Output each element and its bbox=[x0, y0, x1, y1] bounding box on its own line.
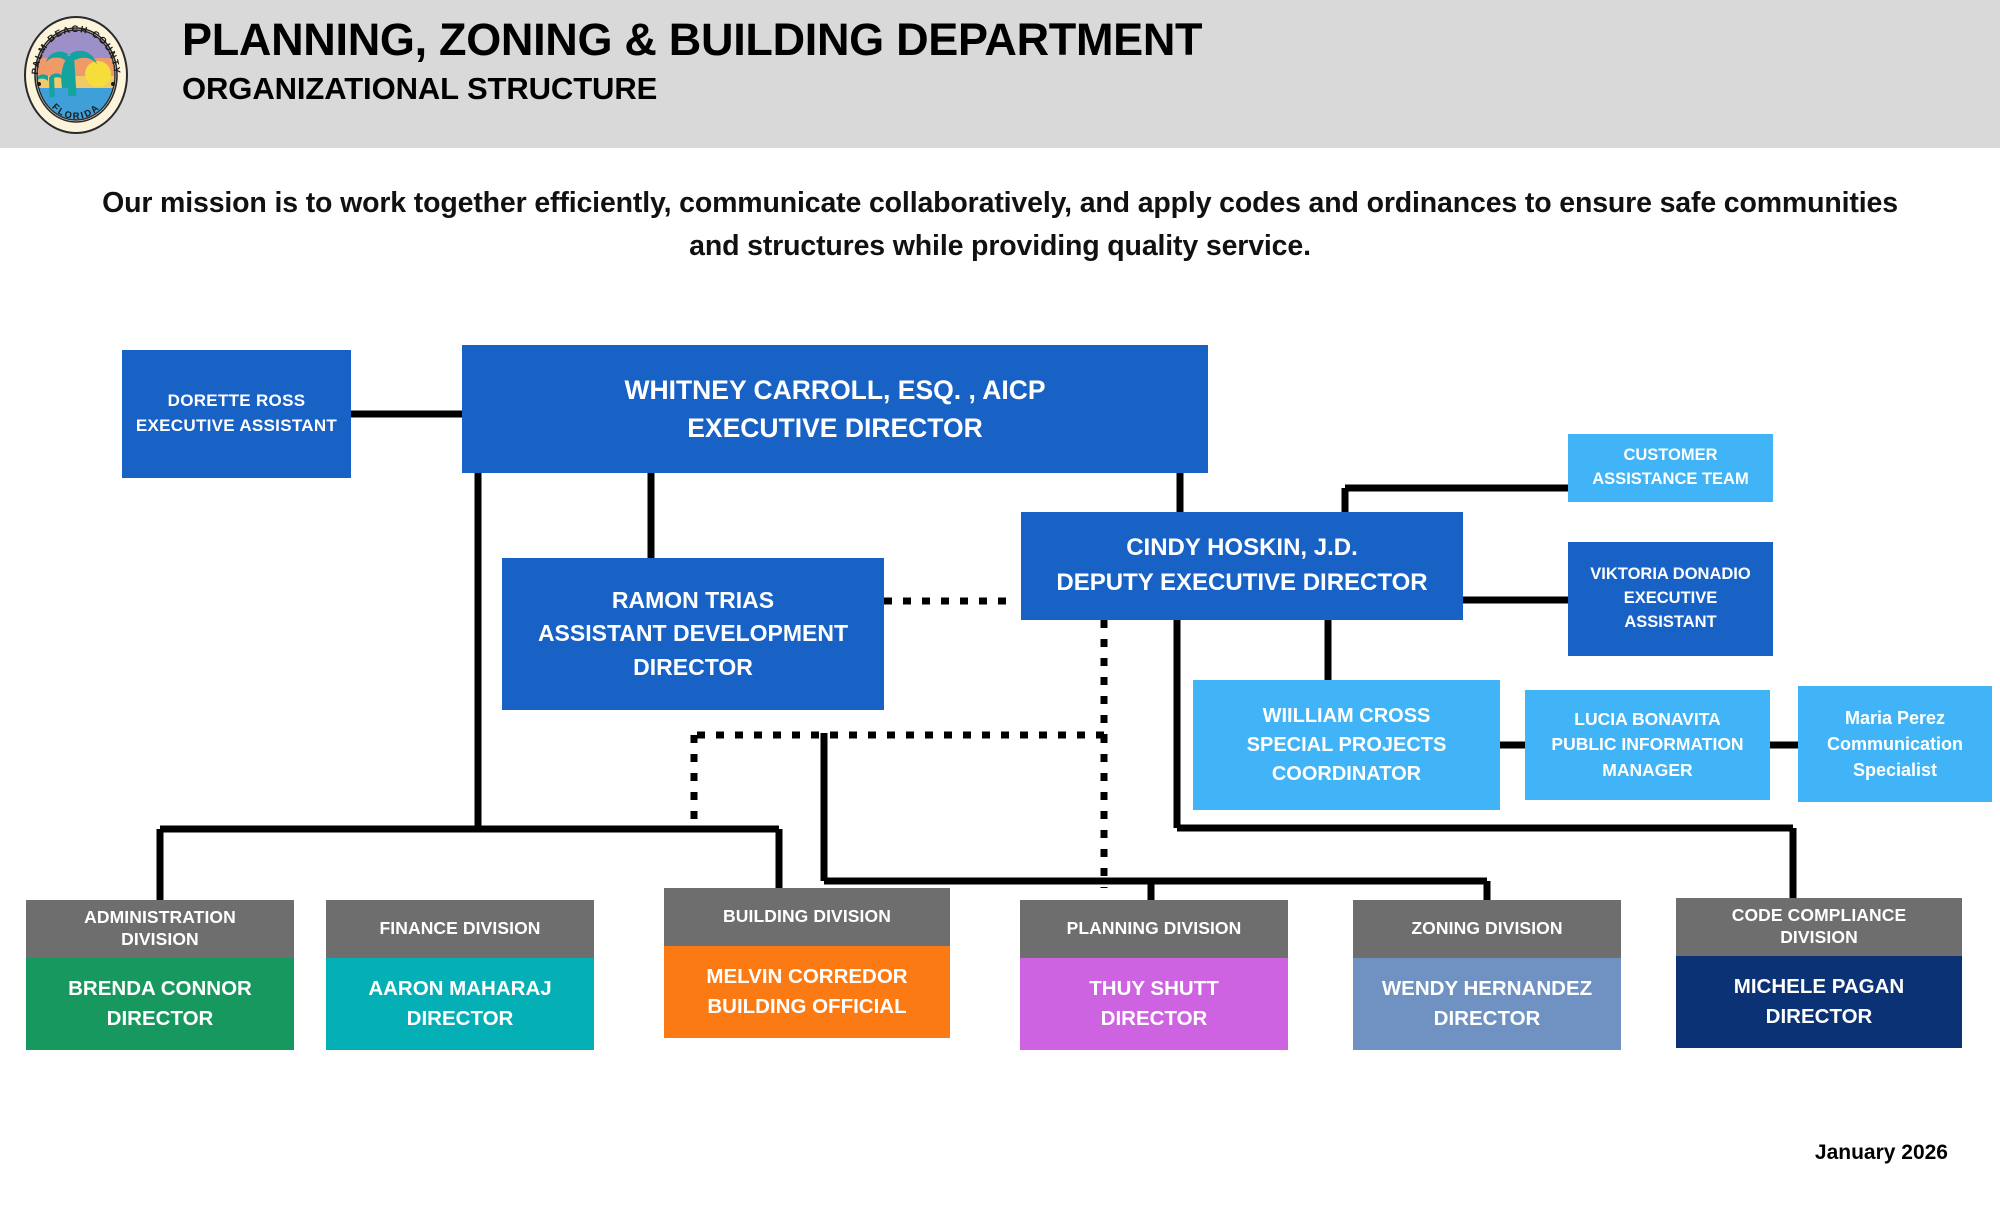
node-ramon-trias[interactable]: RAMON TRIAS ASSISTANT DEVELOPMENT DIRECT… bbox=[502, 558, 884, 710]
node-william-cross[interactable]: WIILLIAM CROSS SPECIAL PROJECTS COORDINA… bbox=[1193, 680, 1500, 810]
division-director-name: AARON MAHARAJ bbox=[368, 974, 551, 1004]
division-finance[interactable]: FINANCE DIVISION AARON MAHARAJ DIRECTOR bbox=[326, 900, 594, 1050]
division-director-role: DIRECTOR bbox=[407, 1004, 514, 1034]
node-name: CUSTOMER bbox=[1568, 444, 1773, 468]
division-director-role: DIRECTOR bbox=[107, 1004, 214, 1034]
division-director-role: BUILDING OFFICIAL bbox=[707, 992, 906, 1022]
node-name: RAMON TRIAS bbox=[502, 584, 884, 617]
division-director-role: DIRECTOR bbox=[1101, 1004, 1208, 1034]
node-role: EXECUTIVE ASSISTANT bbox=[122, 414, 351, 439]
division-administration[interactable]: ADMINISTRATION DIVISION BRENDA CONNOR DI… bbox=[26, 900, 294, 1050]
node-role-line-1: Communication bbox=[1798, 731, 1992, 757]
division-body: AARON MAHARAJ DIRECTOR bbox=[326, 958, 594, 1050]
division-building[interactable]: BUILDING DIVISION MELVIN CORREDOR BUILDI… bbox=[664, 888, 950, 1038]
division-header-line-2: DIVISION bbox=[1732, 927, 1907, 949]
node-name: Maria Perez bbox=[1798, 705, 1992, 731]
division-body: MICHELE PAGAN DIRECTOR bbox=[1676, 956, 1962, 1048]
node-role: ASSISTANCE TEAM bbox=[1568, 468, 1773, 492]
division-body: MELVIN CORREDOR BUILDING OFFICIAL bbox=[664, 946, 950, 1038]
division-header: ADMINISTRATION DIVISION bbox=[26, 900, 294, 958]
division-director-name: MELVIN CORREDOR bbox=[706, 962, 907, 992]
division-header: PLANNING DIVISION bbox=[1020, 900, 1288, 958]
division-header: CODE COMPLIANCE DIVISION bbox=[1676, 898, 1962, 956]
node-role-line-1: PUBLIC INFORMATION bbox=[1525, 732, 1770, 757]
division-director-name: MICHELE PAGAN bbox=[1734, 972, 1904, 1002]
node-role-line-2: ASSISTANT bbox=[1568, 611, 1773, 635]
node-name: LUCIA BONAVITA bbox=[1525, 707, 1770, 732]
division-header: BUILDING DIVISION bbox=[664, 888, 950, 946]
node-whitney-carroll[interactable]: WHITNEY CARROLL, ESQ. , AICP EXECUTIVE D… bbox=[462, 345, 1208, 473]
division-zoning[interactable]: ZONING DIVISION WENDY HERNANDEZ DIRECTOR bbox=[1353, 900, 1621, 1050]
division-header: FINANCE DIVISION bbox=[326, 900, 594, 958]
footer-date: January 2026 bbox=[1815, 1141, 1948, 1165]
node-role-line-2: DIRECTOR bbox=[502, 651, 884, 684]
node-role: DEPUTY EXECUTIVE DIRECTOR bbox=[1021, 566, 1463, 601]
division-header-line-1: FINANCE DIVISION bbox=[379, 918, 540, 940]
division-code-compliance[interactable]: CODE COMPLIANCE DIVISION MICHELE PAGAN D… bbox=[1676, 898, 1962, 1048]
node-lucia-bonavita[interactable]: LUCIA BONAVITA PUBLIC INFORMATION MANAGE… bbox=[1525, 690, 1770, 800]
node-role-line-2: COORDINATOR bbox=[1193, 760, 1500, 789]
division-body: WENDY HERNANDEZ DIRECTOR bbox=[1353, 958, 1621, 1050]
division-director-role: DIRECTOR bbox=[1766, 1002, 1873, 1032]
node-name: CINDY HOSKIN, J.D. bbox=[1021, 531, 1463, 566]
node-role-line-2: Specialist bbox=[1798, 757, 1992, 783]
node-cindy-hoskin[interactable]: CINDY HOSKIN, J.D. DEPUTY EXECUTIVE DIRE… bbox=[1021, 512, 1463, 620]
division-header-line-1: ZONING DIVISION bbox=[1411, 918, 1562, 940]
division-header-line-2: DIVISION bbox=[84, 929, 236, 951]
division-header-line-1: ADMINISTRATION bbox=[84, 907, 236, 929]
division-director-name: BRENDA CONNOR bbox=[68, 974, 252, 1004]
node-role-line-1: SPECIAL PROJECTS bbox=[1193, 731, 1500, 760]
division-body: THUY SHUTT DIRECTOR bbox=[1020, 958, 1288, 1050]
node-role-line-2: MANAGER bbox=[1525, 758, 1770, 783]
node-name: WHITNEY CARROLL, ESQ. , AICP bbox=[462, 371, 1208, 409]
node-viktoria-donadio[interactable]: VIKTORIA DONADIO EXECUTIVE ASSISTANT bbox=[1568, 542, 1773, 656]
node-name: WIILLIAM CROSS bbox=[1193, 702, 1500, 731]
node-name: VIKTORIA DONADIO bbox=[1568, 563, 1773, 587]
division-planning[interactable]: PLANNING DIVISION THUY SHUTT DIRECTOR bbox=[1020, 900, 1288, 1050]
node-role-line-1: EXECUTIVE bbox=[1568, 587, 1773, 611]
division-header-line-1: BUILDING DIVISION bbox=[723, 906, 891, 928]
division-director-role: DIRECTOR bbox=[1434, 1004, 1541, 1034]
division-header-line-1: CODE COMPLIANCE bbox=[1732, 905, 1907, 927]
node-role: EXECUTIVE DIRECTOR bbox=[462, 409, 1208, 447]
division-director-name: THUY SHUTT bbox=[1089, 974, 1218, 1004]
division-header-line-1: PLANNING DIVISION bbox=[1067, 918, 1242, 940]
node-maria-perez[interactable]: Maria Perez Communication Specialist bbox=[1798, 686, 1992, 802]
node-name: DORETTE ROSS bbox=[122, 389, 351, 414]
node-customer-assistance-team[interactable]: CUSTOMER ASSISTANCE TEAM bbox=[1568, 434, 1773, 502]
node-dorette-ross[interactable]: DORETTE ROSS EXECUTIVE ASSISTANT bbox=[122, 350, 351, 478]
division-header: ZONING DIVISION bbox=[1353, 900, 1621, 958]
division-director-name: WENDY HERNANDEZ bbox=[1382, 974, 1592, 1004]
org-chart-page: PALM BEACH COUNTY FLORIDA PLANNING, ZONI… bbox=[0, 0, 2000, 1214]
node-role-line-1: ASSISTANT DEVELOPMENT bbox=[502, 617, 884, 650]
division-body: BRENDA CONNOR DIRECTOR bbox=[26, 958, 294, 1050]
